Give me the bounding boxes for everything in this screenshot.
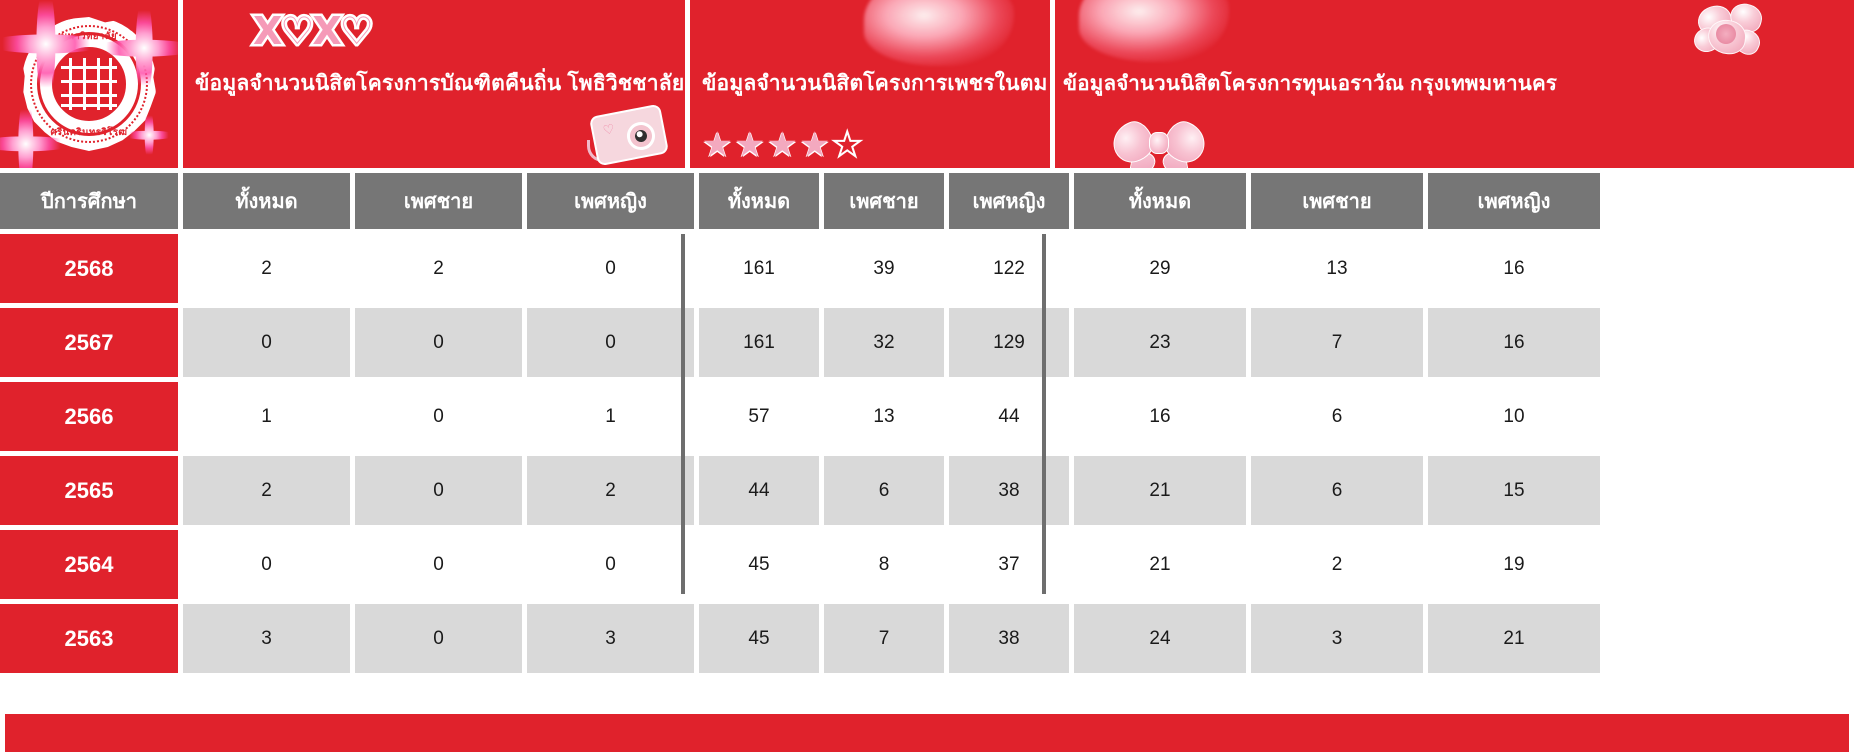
banner-row: มหาวิทยาลัย ศรีนครินทรวิโรฒ X♡X♡ ข้อมูลจ… bbox=[0, 0, 1854, 168]
cell-g2-female: 122 bbox=[949, 234, 1069, 303]
cell-g3-female: 10 bbox=[1428, 382, 1600, 451]
column-header-g3-male: เพศชาย bbox=[1251, 173, 1423, 229]
powder-puff-sticker bbox=[1079, 0, 1229, 62]
cell-g3-female: 16 bbox=[1428, 308, 1600, 377]
logo-cell: มหาวิทยาลัย ศรีนครินทรวิโรฒ bbox=[0, 0, 178, 168]
xoxo-sticker: X♡X♡ bbox=[253, 12, 372, 50]
column-header-row: ปีการศึกษา ทั้งหมด เพศชาย เพศหญิง ทั้งหม… bbox=[0, 173, 1854, 229]
cell-g2-female: 129 bbox=[949, 308, 1069, 377]
column-header-g2-male: เพศชาย bbox=[824, 173, 944, 229]
column-header-g3-total: ทั้งหมด bbox=[1074, 173, 1246, 229]
cell-g2-male: 7 bbox=[824, 604, 944, 673]
cell-g2-total: 45 bbox=[699, 530, 819, 599]
cell-g3-total: 21 bbox=[1074, 530, 1246, 599]
section-banner-3: ข้อมูลจำนวนนิสิตโครงการทุนเอราวัณ กรุงเท… bbox=[1055, 0, 1854, 168]
data-rows: 2568 2 2 0 161 39 122 29 13 16 2567 0 0 … bbox=[0, 234, 1854, 678]
cell-g1-female: 0 bbox=[527, 530, 694, 599]
cell-g1-female: 0 bbox=[527, 234, 694, 303]
group-separator bbox=[1042, 234, 1046, 594]
cell-g3-total: 29 bbox=[1074, 234, 1246, 303]
cell-g3-total: 23 bbox=[1074, 308, 1246, 377]
row-year: 2564 bbox=[0, 530, 178, 599]
column-header-g1-female: เพศหญิง bbox=[527, 173, 694, 229]
cell-g3-male: 2 bbox=[1251, 530, 1423, 599]
student-statistics-table: มหาวิทยาลัย ศรีนครินทรวิโรฒ X♡X♡ ข้อมูลจ… bbox=[0, 0, 1854, 755]
cell-g1-male: 0 bbox=[355, 456, 522, 525]
cell-g1-male: 0 bbox=[355, 604, 522, 673]
bow-sticker bbox=[1111, 118, 1207, 168]
cell-g2-total: 161 bbox=[699, 234, 819, 303]
swu-seal-logo: มหาวิทยาลัย ศรีนครินทรวิโรฒ bbox=[22, 17, 156, 151]
cell-g2-male: 8 bbox=[824, 530, 944, 599]
row-year: 2563 bbox=[0, 604, 178, 673]
column-header-g1-male: เพศชาย bbox=[355, 173, 522, 229]
cell-g2-total: 57 bbox=[699, 382, 819, 451]
star-rating-sticker: ★★★★★ bbox=[702, 128, 862, 162]
section-banner-1: X♡X♡ ข้อมูลจำนวนนิสิตโครงการบัณฑิตคืนถิ่… bbox=[183, 0, 685, 168]
column-header-g2-female: เพศหญิง bbox=[949, 173, 1069, 229]
cell-g3-female: 16 bbox=[1428, 234, 1600, 303]
cell-g1-male: 2 bbox=[355, 234, 522, 303]
row-year: 2568 bbox=[0, 234, 178, 303]
table-row: 2568 2 2 0 161 39 122 29 13 16 bbox=[0, 234, 1854, 303]
cell-g2-female: 37 bbox=[949, 530, 1069, 599]
table-row: 2566 1 0 1 57 13 44 16 6 10 bbox=[0, 382, 1854, 451]
cell-g3-female: 21 bbox=[1428, 604, 1600, 673]
cell-g3-male: 13 bbox=[1251, 234, 1423, 303]
cell-g1-male: 0 bbox=[355, 382, 522, 451]
table-row: 2563 3 0 3 45 7 38 24 3 21 bbox=[0, 604, 1854, 673]
section-title-1: ข้อมูลจำนวนนิสิตโครงการบัณฑิตคืนถิ่น โพธ… bbox=[183, 71, 685, 97]
column-header-g2-total: ทั้งหมด bbox=[699, 173, 819, 229]
cell-g3-male: 6 bbox=[1251, 456, 1423, 525]
cell-g3-female: 19 bbox=[1428, 530, 1600, 599]
cell-g2-female: 38 bbox=[949, 456, 1069, 525]
cell-g1-female: 2 bbox=[527, 456, 694, 525]
table-row: 2567 0 0 0 161 32 129 23 7 16 bbox=[0, 308, 1854, 377]
column-header-g3-female: เพศหญิง bbox=[1428, 173, 1600, 229]
cell-g1-total: 3 bbox=[183, 604, 350, 673]
cell-g1-female: 3 bbox=[527, 604, 694, 673]
cell-g3-total: 16 bbox=[1074, 382, 1246, 451]
cell-g3-total: 24 bbox=[1074, 604, 1246, 673]
cell-g1-total: 0 bbox=[183, 530, 350, 599]
cell-g1-female: 1 bbox=[527, 382, 694, 451]
seal-text-bottom: ศรีนครินทรวิโรฒ bbox=[50, 125, 127, 140]
cell-g2-female: 44 bbox=[949, 382, 1069, 451]
cell-g2-total: 161 bbox=[699, 308, 819, 377]
cell-g3-male: 7 bbox=[1251, 308, 1423, 377]
cell-g3-male: 6 bbox=[1251, 382, 1423, 451]
cell-g1-total: 2 bbox=[183, 456, 350, 525]
seal-text-top: มหาวิทยาลัย bbox=[61, 29, 117, 44]
section-banner-2: ข้อมูลจำนวนนิสิตโครงการเพชรในตม ★★★★★ bbox=[690, 0, 1050, 168]
cell-g3-female: 15 bbox=[1428, 456, 1600, 525]
group-separator bbox=[681, 234, 685, 594]
row-year: 2567 bbox=[0, 308, 178, 377]
rose-sticker bbox=[1692, 2, 1766, 64]
cell-g2-male: 13 bbox=[824, 382, 944, 451]
cell-g3-total: 21 bbox=[1074, 456, 1246, 525]
section-title-2: ข้อมูลจำนวนนิสิตโครงการเพชรในตม bbox=[690, 71, 1050, 97]
cell-g1-male: 0 bbox=[355, 308, 522, 377]
cell-g1-total: 2 bbox=[183, 234, 350, 303]
column-header-g1-total: ทั้งหมด bbox=[183, 173, 350, 229]
section-title-3: ข้อมูลจำนวนนิสิตโครงการทุนเอราวัณ กรุงเท… bbox=[1055, 71, 1567, 97]
cell-g2-total: 45 bbox=[699, 604, 819, 673]
cell-g2-female: 38 bbox=[949, 604, 1069, 673]
powder-puff-sticker bbox=[864, 0, 1014, 66]
footer-bar bbox=[5, 714, 1849, 752]
cell-g1-total: 0 bbox=[183, 308, 350, 377]
cell-g1-female: 0 bbox=[527, 308, 694, 377]
row-year: 2566 bbox=[0, 382, 178, 451]
cell-g3-male: 3 bbox=[1251, 604, 1423, 673]
cell-g1-male: 0 bbox=[355, 530, 522, 599]
cell-g2-male: 39 bbox=[824, 234, 944, 303]
table-row: 2565 2 0 2 44 6 38 21 6 15 bbox=[0, 456, 1854, 525]
cell-g2-total: 44 bbox=[699, 456, 819, 525]
row-year: 2565 bbox=[0, 456, 178, 525]
camera-sticker: ♡ bbox=[585, 100, 669, 162]
cell-g2-male: 32 bbox=[824, 308, 944, 377]
cell-g2-male: 6 bbox=[824, 456, 944, 525]
cell-g1-total: 1 bbox=[183, 382, 350, 451]
table-row: 2564 0 0 0 45 8 37 21 2 19 bbox=[0, 530, 1854, 599]
seal-grid-mark bbox=[61, 58, 117, 110]
column-header-year: ปีการศึกษา bbox=[0, 173, 178, 229]
